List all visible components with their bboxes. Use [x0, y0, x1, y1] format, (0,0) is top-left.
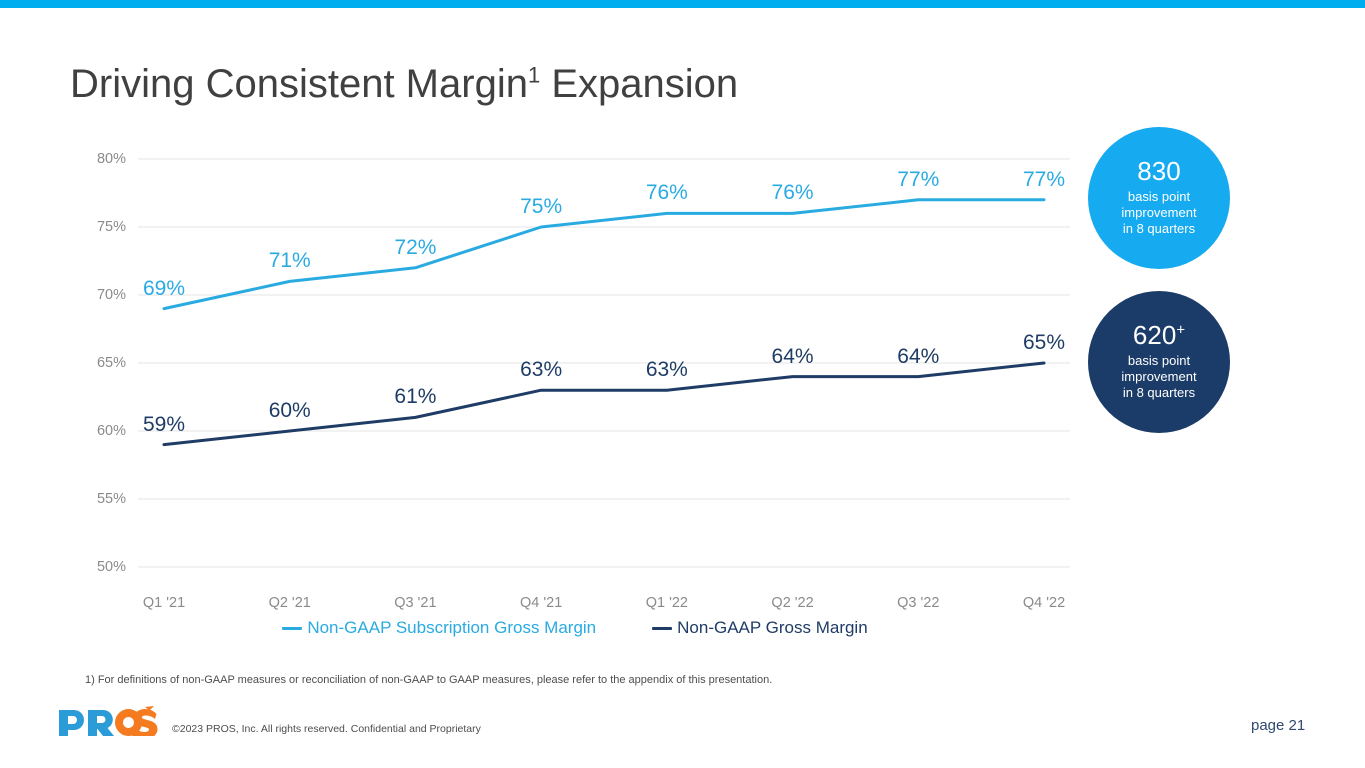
badge-description-line1: basis point [1121, 353, 1196, 369]
page-title-tail: Expansion [540, 62, 738, 106]
badge-value: 620+ [1133, 322, 1185, 349]
pros-logo [57, 706, 160, 736]
x-axis-tick-label: Q4 '21 [496, 595, 586, 611]
x-axis-tick-label: Q3 '22 [873, 595, 963, 611]
badge-830-basis-points: 830 basis point improvement in 8 quarter… [1088, 127, 1230, 269]
footnote: 1) For definitions of non-GAAP measures … [85, 674, 772, 686]
badge-description: basis point improvement in 8 quarters [1121, 353, 1196, 402]
data-label: 77% [897, 168, 939, 192]
badge-description-line2: improvement [1121, 205, 1196, 221]
badge-description-line3: in 8 quarters [1121, 385, 1196, 401]
y-axis-tick-label: 60% [70, 423, 126, 439]
y-axis-tick-label: 50% [70, 559, 126, 575]
legend-item-subscription-gross-margin[interactable]: Non-GAAP Subscription Gross Margin [282, 618, 596, 638]
x-axis-tick-label: Q4 '22 [999, 595, 1089, 611]
legend-item-gross-margin[interactable]: Non-GAAP Gross Margin [652, 618, 868, 638]
data-label: 61% [394, 385, 436, 409]
margin-line-chart: 80%75%70%65%60%55%50% Q1 '21Q2 '21Q3 '21… [70, 145, 1080, 645]
y-axis-tick-label: 70% [70, 287, 126, 303]
slide: Driving Consistent Margin1 Expansion 80%… [0, 0, 1365, 768]
data-label: 75% [520, 195, 562, 219]
badge-superscript: + [1176, 322, 1185, 339]
badge-description-line1: basis point [1121, 189, 1196, 205]
data-label: 76% [772, 181, 814, 205]
chart-canvas [70, 145, 1080, 605]
data-label: 63% [520, 358, 562, 382]
page-number: page 21 [1251, 717, 1305, 734]
badge-number: 620 [1133, 320, 1176, 350]
x-axis-tick-label: Q1 '21 [119, 595, 209, 611]
legend-swatch-gross-margin [652, 627, 672, 630]
copyright-text: ©2023 PROS, Inc. All rights reserved. Co… [172, 723, 481, 735]
data-label: 63% [646, 358, 688, 382]
chart-legend: Non-GAAP Subscription Gross Margin Non-G… [70, 618, 1080, 638]
page-title-main: Driving Consistent Margin [70, 62, 528, 106]
badge-description-line3: in 8 quarters [1121, 221, 1196, 237]
data-label: 69% [143, 277, 185, 301]
badge-number: 830 [1137, 156, 1180, 186]
legend-label-gross-margin: Non-GAAP Gross Margin [677, 618, 868, 638]
legend-swatch-subscription-gross-margin [282, 627, 302, 630]
data-label: 71% [269, 249, 311, 273]
badge-value: 830 [1137, 158, 1180, 185]
data-label: 59% [143, 413, 185, 437]
data-label: 76% [646, 181, 688, 205]
accent-top-bar [0, 0, 1365, 8]
badge-620-basis-points: 620+ basis point improvement in 8 quarte… [1088, 291, 1230, 433]
y-axis-tick-label: 75% [70, 219, 126, 235]
page-title-superscript: 1 [528, 63, 540, 88]
page-title: Driving Consistent Margin1 Expansion [70, 62, 738, 107]
data-label: 64% [772, 345, 814, 369]
x-axis-tick-label: Q3 '21 [370, 595, 460, 611]
data-label: 77% [1023, 168, 1065, 192]
badge-description-line2: improvement [1121, 369, 1196, 385]
y-axis-tick-label: 65% [70, 355, 126, 371]
x-axis-tick-label: Q2 '21 [245, 595, 335, 611]
x-axis-tick-label: Q2 '22 [748, 595, 838, 611]
badge-description: basis point improvement in 8 quarters [1121, 189, 1196, 238]
data-label: 60% [269, 399, 311, 423]
data-label: 65% [1023, 331, 1065, 355]
y-axis-tick-label: 55% [70, 491, 126, 507]
y-axis-tick-label: 80% [70, 151, 126, 167]
x-axis-tick-label: Q1 '22 [622, 595, 712, 611]
data-label: 72% [394, 236, 436, 260]
legend-label-subscription-gross-margin: Non-GAAP Subscription Gross Margin [307, 618, 596, 638]
data-label: 64% [897, 345, 939, 369]
